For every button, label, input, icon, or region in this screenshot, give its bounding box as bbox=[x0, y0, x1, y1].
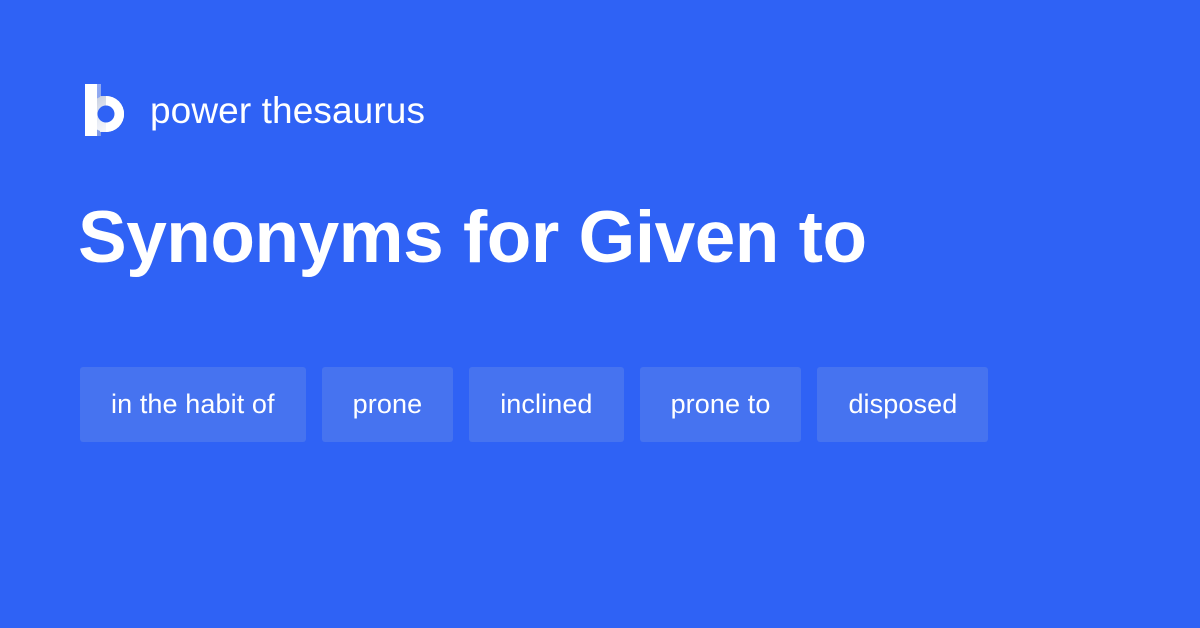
synonym-chip[interactable]: prone to bbox=[640, 367, 802, 442]
synonym-chip[interactable]: in the habit of bbox=[80, 367, 306, 442]
synonym-chip[interactable]: disposed bbox=[817, 367, 988, 442]
power-thesaurus-b-logo-icon bbox=[80, 82, 128, 138]
synonym-chip-list: in the habit of prone inclined prone to … bbox=[80, 367, 1120, 442]
synonym-chip[interactable]: prone bbox=[322, 367, 454, 442]
page-title: Synonyms for Given to bbox=[78, 196, 867, 281]
synonym-chip[interactable]: inclined bbox=[469, 367, 623, 442]
share-card: power thesaurus Synonyms for Given to in… bbox=[0, 0, 1200, 628]
brand-name: power thesaurus bbox=[150, 92, 425, 129]
brand-lockup[interactable]: power thesaurus bbox=[80, 80, 425, 140]
